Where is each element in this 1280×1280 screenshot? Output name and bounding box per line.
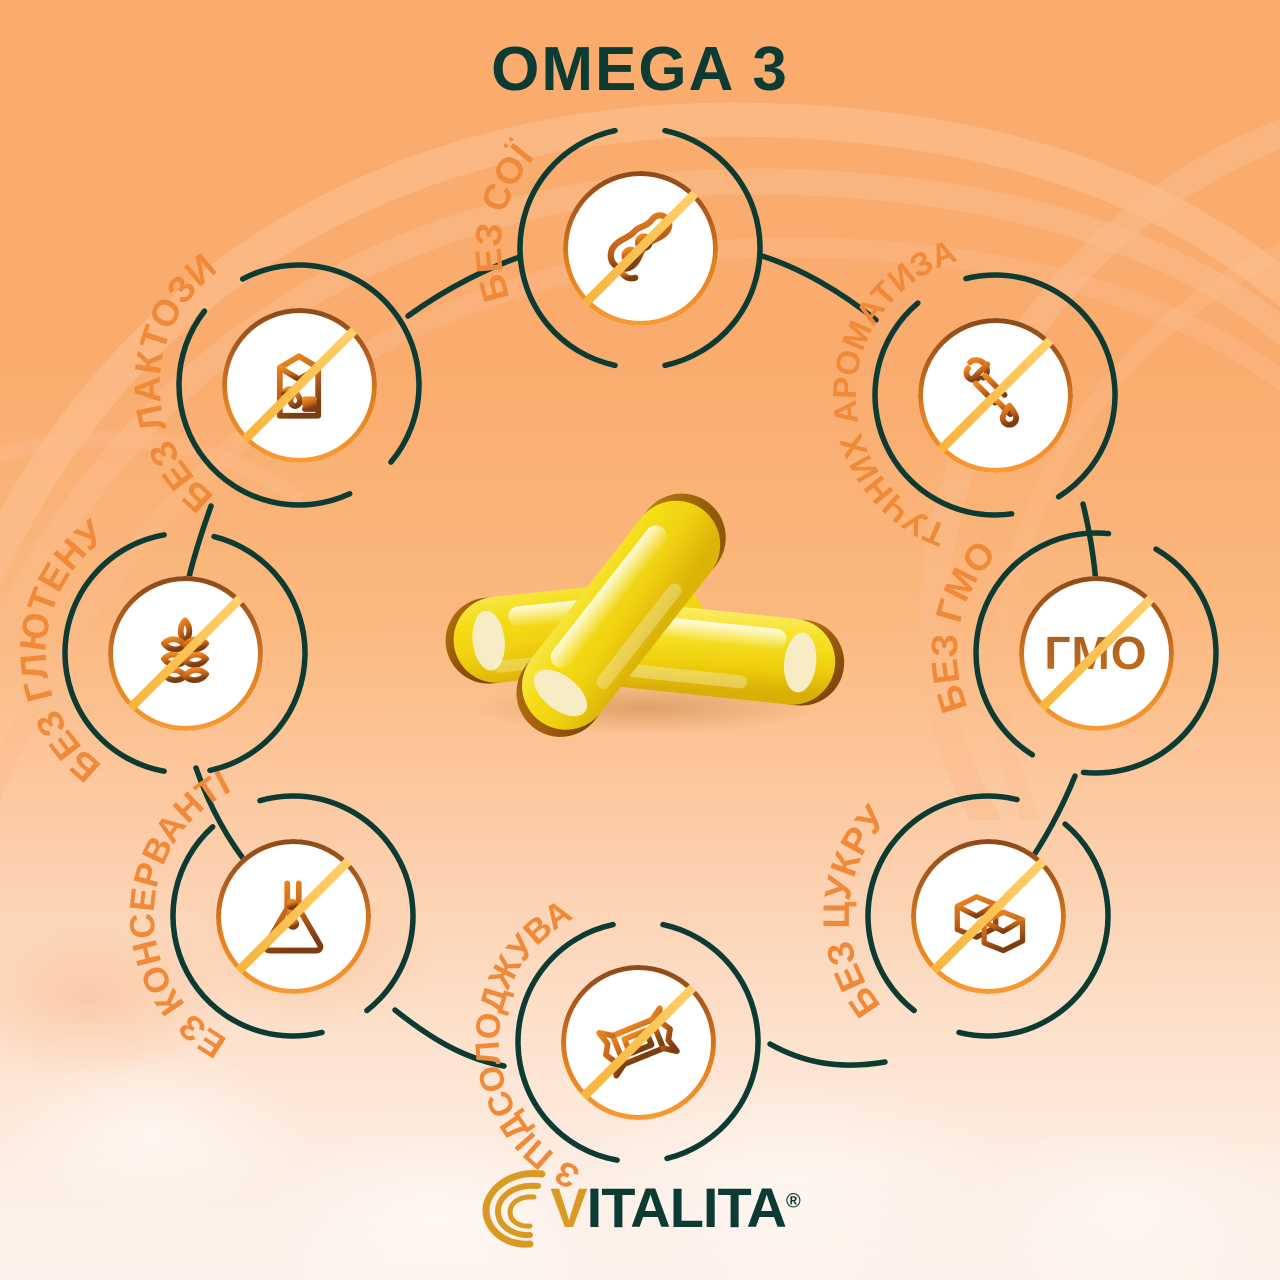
badge-inner-circle: ГМО xyxy=(1019,576,1174,731)
brand-logo: VITALITA® xyxy=(0,1164,1280,1252)
badge-sugar[interactable]: БЕЗ ЦУКРУ xyxy=(863,791,1113,1041)
badge-flavourings[interactable]: БЕЗ ШТУЧНИХ АРОМАТИЗАТОРІВ xyxy=(870,270,1120,520)
badge-soy[interactable]: БЕЗ СОЇ xyxy=(515,123,765,373)
badge-gmo[interactable]: ГМОБЕЗ ГМО xyxy=(971,528,1221,778)
omega-3-capsules-image xyxy=(430,480,850,740)
badge-inner-circle xyxy=(563,171,718,326)
badge-inner-circle xyxy=(222,308,377,463)
badge-sweeteners[interactable]: БЕЗ ПІДСОЛОДЖУВАЧІВ xyxy=(513,917,763,1167)
logo-letter-v: V xyxy=(550,1176,586,1239)
badge-inner-circle xyxy=(216,839,371,994)
infographic-canvas: OMEGA 3 БЕЗ СОЇБЕЗ ЛАКТОЗИБЕЗ ГЛЮТЕНУБЕЗ… xyxy=(0,0,1280,1280)
badge-gluten[interactable]: БЕЗ ГЛЮТЕНУ xyxy=(60,528,310,778)
badge-inner-circle xyxy=(561,965,716,1120)
logo-letters-rest: ITALITA xyxy=(587,1176,786,1239)
badge-lactose[interactable]: БЕЗ ЛАКТОЗИ xyxy=(174,260,424,510)
brand-wordmark: VITALITA® xyxy=(550,1180,799,1236)
badge-inner-circle xyxy=(108,576,263,731)
badge-inner-circle xyxy=(918,318,1073,473)
badge-inner-circle xyxy=(911,839,1066,994)
page-title: OMEGA 3 xyxy=(0,34,1280,105)
registered-trademark-icon: ® xyxy=(786,1190,800,1212)
badge-preservatives[interactable]: БЕЗ КОНСЕРВАНТІВ xyxy=(168,791,418,1041)
